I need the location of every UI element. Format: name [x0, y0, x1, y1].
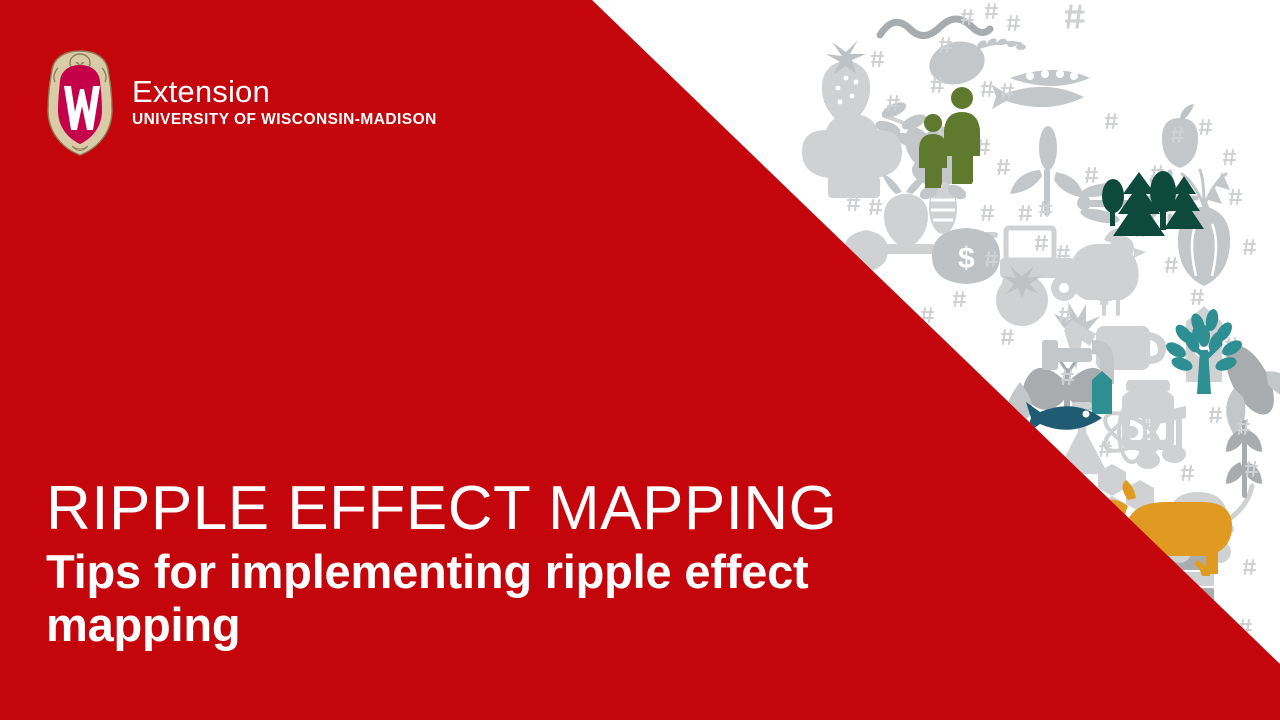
slide-title: RIPPLE EFFECT MAPPING [46, 478, 976, 540]
milk-carton-accent-icon [1092, 371, 1112, 414]
svg-text:$: $ [958, 242, 975, 275]
slide-canvas: $ [0, 0, 1280, 720]
wordmark: Extension UNIVERSITY OF WISCONSIN-MADISO… [132, 76, 437, 130]
wordmark-university: UNIVERSITY OF WISCONSIN-MADISON [132, 111, 437, 130]
slide-subtitle: Tips for implementing ripple effect mapp… [46, 546, 976, 651]
uw-extension-logo[interactable]: Extension UNIVERSITY OF WISCONSIN-MADISO… [44, 48, 437, 158]
uw-crest-icon [44, 48, 116, 158]
wordmark-extension: Extension [132, 76, 437, 109]
title-block: RIPPLE EFFECT MAPPING Tips for implement… [46, 478, 976, 651]
